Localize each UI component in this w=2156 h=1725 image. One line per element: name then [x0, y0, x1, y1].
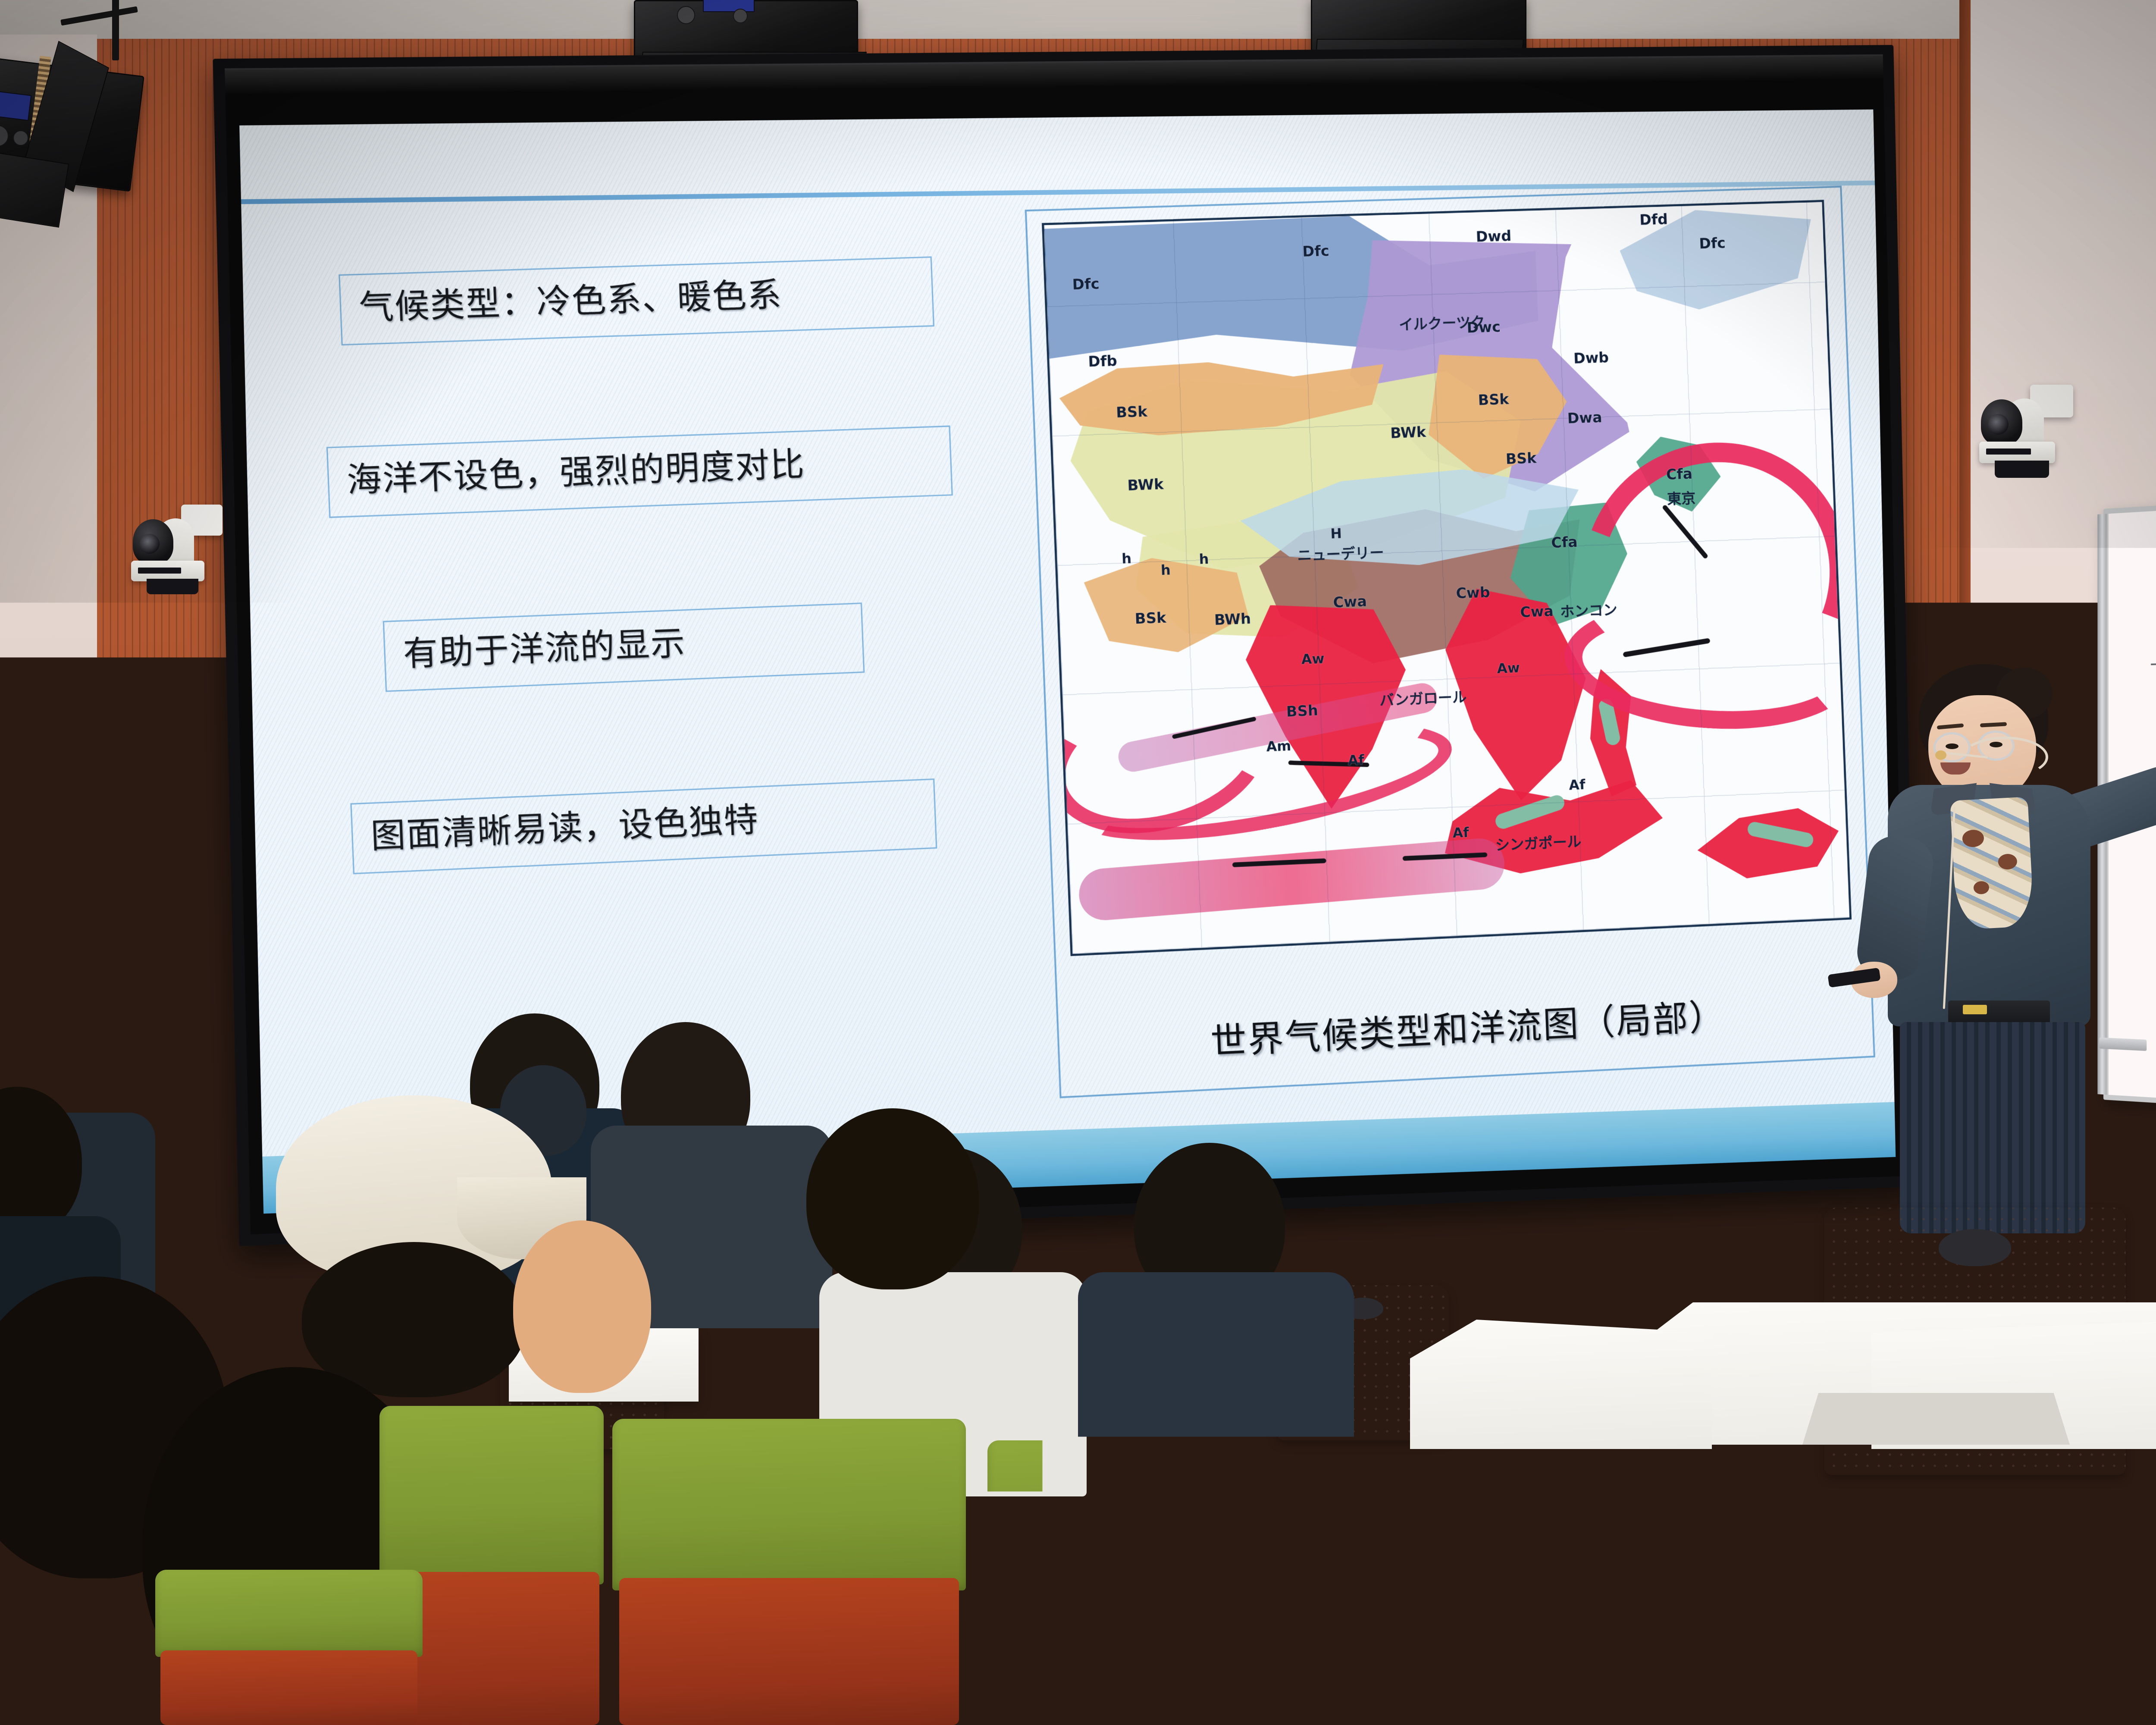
bullet-text-1: 气候类型：冷色系、暖色系	[358, 275, 783, 327]
map-place-label: 東京	[1667, 486, 1696, 508]
map-climate-label: Af	[1452, 824, 1469, 841]
bullet-box-4: 图面清晰易读，设色独特	[350, 778, 937, 874]
auditorium-seat-5[interactable]	[1764, 1458, 2156, 1725]
map-climate-label: Dwb	[1573, 349, 1609, 367]
lecture-hall-scene: 气候类型：冷色系、暖色系 海洋不设色，强烈的明度对比 有助于洋流的显示 图面清晰…	[0, 0, 2156, 1725]
student-head-fg-3	[806, 1108, 979, 1289]
map-climate-label: Dfc	[1699, 235, 1726, 252]
studio-light-1	[0, 0, 207, 246]
map-climate-label: h	[1199, 551, 1209, 568]
map-place-label: ホンコン	[1560, 598, 1617, 621]
map-climate-label: Dwd	[1476, 228, 1512, 246]
map-climate-label: Af	[1347, 752, 1365, 768]
map-place-label: シンガポール	[1495, 830, 1582, 854]
map-climate-label: BSk	[1116, 403, 1147, 421]
auditorium-seat-7[interactable]	[155, 1570, 423, 1725]
presenter-eye-left	[1946, 743, 1959, 749]
bullet-box-2: 海洋不设色，强烈的明度对比	[326, 426, 953, 518]
bullet-text-3: 有助于洋流的显示	[402, 624, 686, 673]
slide-bullet-list: 气候类型：冷色系、暖色系 海洋不设色，强烈的明度对比 有助于洋流的显示 图面清晰…	[323, 261, 1003, 870]
figure-caption: 世界气候类型和洋流图（局部）	[1059, 981, 1873, 1073]
podium-console[interactable]	[1802, 1393, 2070, 1445]
map-climate-label: BSh	[1286, 702, 1318, 721]
slide-figure-block: DfcDfcDwdDfdDfcDfbBSkDwcBWkBWkBSkDwbDwaB…	[1025, 186, 1875, 1098]
map-climate-label: Dfb	[1088, 352, 1118, 370]
map-place-label: イルクーツク	[1398, 310, 1485, 334]
mic-capsule	[1935, 750, 1946, 760]
map-climate-label: H	[1330, 525, 1342, 542]
map-climate-label: BSk	[1134, 609, 1166, 628]
map-climate-label: Dwa	[1567, 409, 1602, 427]
map-climate-label: Cwa	[1520, 603, 1554, 621]
presenter-scarf	[1950, 797, 2034, 930]
transmitter-label	[1963, 1005, 1987, 1014]
map-climate-label: Dfc	[1072, 275, 1100, 293]
ptz-camera-right	[1978, 388, 2078, 479]
map-climate-label: Aw	[1301, 650, 1325, 668]
map-place-label: ニューデリー	[1297, 541, 1384, 565]
auditorium-seat-3[interactable]	[987, 1440, 1341, 1725]
map-climate-label: Cfa	[1666, 465, 1692, 483]
map-climate-label: BSk	[1505, 450, 1537, 468]
map-climate-label: Cwa	[1333, 593, 1367, 612]
map-climate-label: h	[1122, 550, 1132, 567]
map-climate-label: BWk	[1127, 476, 1164, 494]
white-table-left[interactable]	[1410, 1320, 1712, 1449]
chair-handle	[1939, 1229, 2011, 1267]
map-climate-label: Cwb	[1456, 584, 1491, 602]
auditorium-seat-2[interactable]	[612, 1419, 966, 1725]
bullet-text-4: 图面清晰易读，设色独特	[370, 800, 759, 855]
map-place-label: バンガロール	[1379, 685, 1467, 710]
map-label-layer: DfcDfcDwdDfdDfcDfbBSkDwcBWkBWkBSkDwbDwaB…	[1044, 202, 1849, 953]
map-climate-label: Aw	[1497, 659, 1520, 677]
presenter-teacher	[1811, 664, 2139, 1233]
bullet-box-1: 气候类型：冷色系、暖色系	[338, 257, 934, 345]
student-head-orange-hair	[513, 1220, 651, 1393]
ptz-camera-left	[129, 509, 224, 595]
projection-screen[interactable]: 气候类型：冷色系、暖色系 海洋不设色，强烈的明度对比 有助于洋流的显示 图面清晰…	[213, 45, 1918, 1246]
auditorium-seat-4[interactable]	[1363, 1458, 1742, 1725]
map-climate-label: BWk	[1390, 423, 1426, 442]
climate-map-image: DfcDfcDwdDfdDfcDfbBSkDwcBWkBWkBSkDwbDwaB…	[1042, 200, 1852, 956]
map-climate-label: Am	[1266, 737, 1291, 755]
presenter-skirt	[1900, 1022, 2085, 1233]
map-climate-label: Af	[1569, 776, 1586, 793]
whiteboard-line: 一、设计原则	[2150, 646, 2156, 677]
map-climate-label: Dfc	[1302, 242, 1330, 260]
map-climate-label: Dfd	[1639, 211, 1668, 229]
map-climate-label: BWh	[1214, 610, 1251, 629]
map-climate-label: BSk	[1478, 391, 1509, 409]
map-climate-label: h	[1160, 561, 1171, 578]
bullet-text-2: 海洋不设色，强烈的明度对比	[346, 445, 806, 499]
map-climate-label: Cfa	[1551, 533, 1578, 552]
bullet-box-3: 有助于洋流的显示	[383, 602, 865, 692]
